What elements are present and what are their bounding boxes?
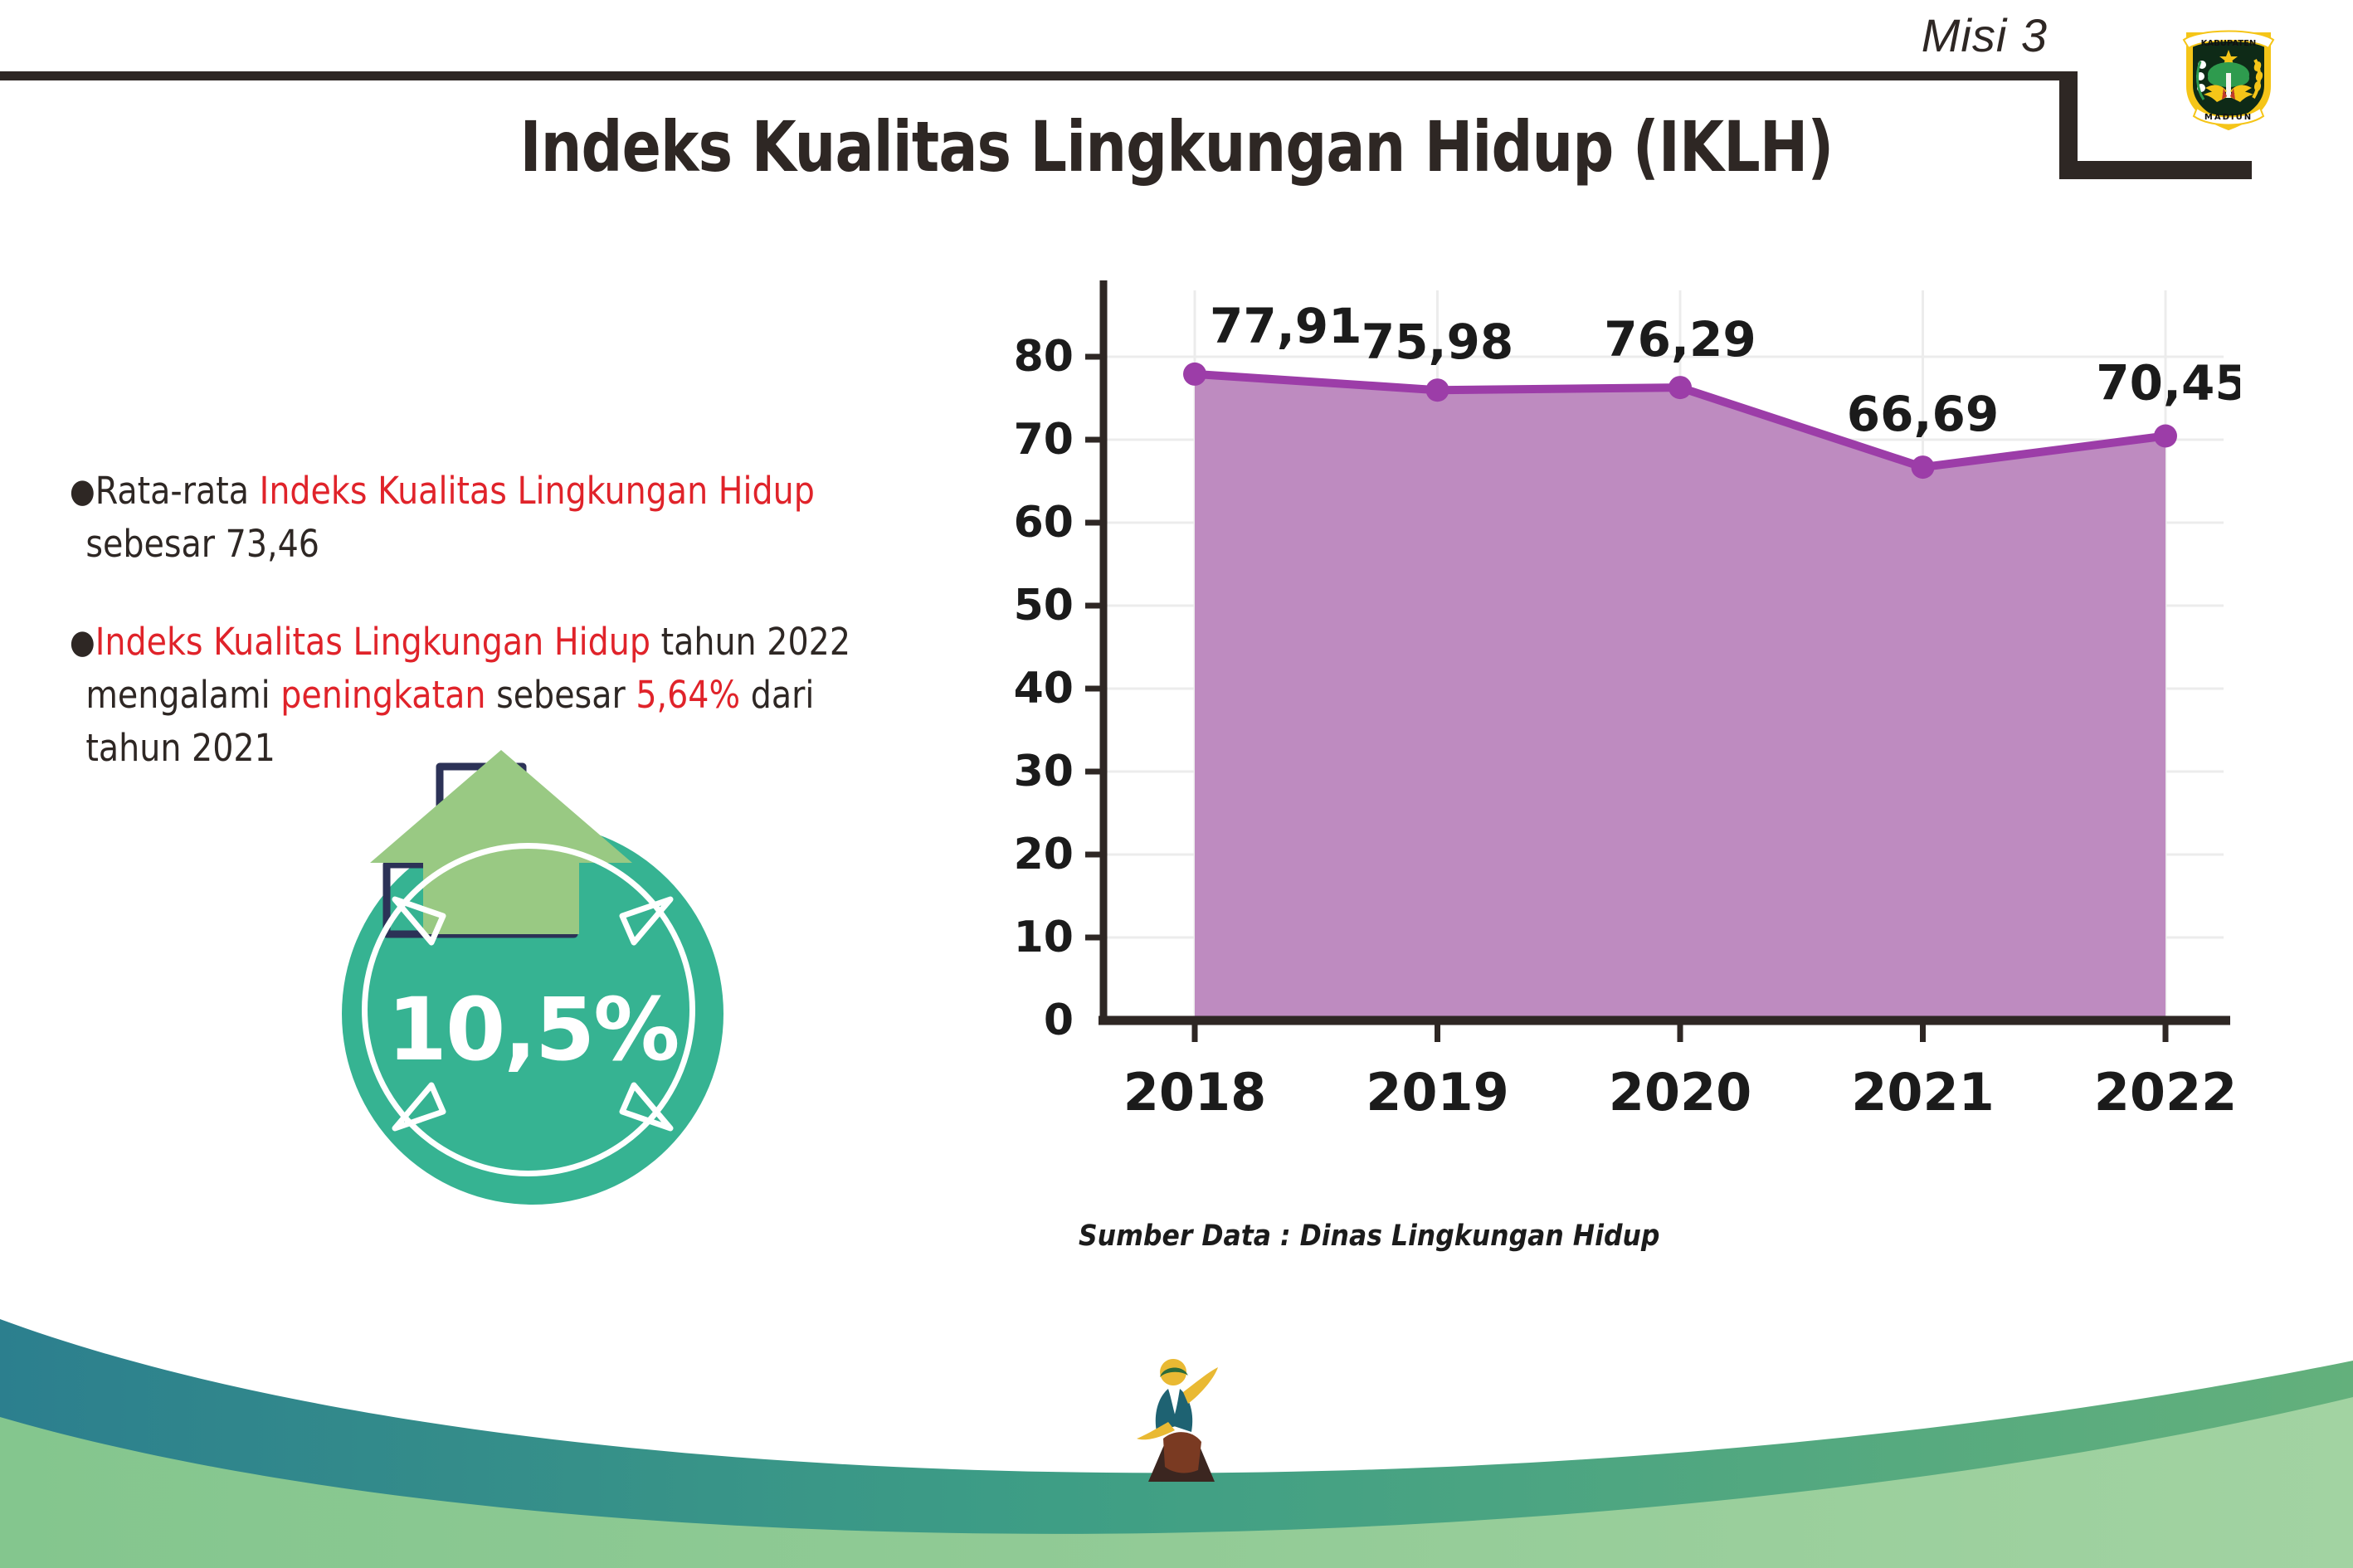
svg-text:20: 20 (1014, 830, 1074, 879)
increase-badge: 10,5% (319, 745, 750, 1210)
data-label: 66,69 (1847, 386, 1999, 442)
bullet-0-seg-2: sebesar 73,46 (85, 522, 319, 566)
chart-canvas: 010203040506070802018201920202021202277,… (979, 274, 2240, 1178)
bullet-dot: ● (70, 472, 95, 510)
page-title: Indeks Kualitas Lingkungan Hidup (IKLH) (200, 106, 2153, 187)
header-rule (0, 71, 2059, 80)
bullet-1-seg-0: Indeks Kualitas Lingkungan Hidup (95, 620, 650, 664)
svg-text:2019: 2019 (1366, 1062, 1509, 1122)
kabupaten-madiun-crest-icon: KABUPATEN MADIUN (2175, 15, 2282, 133)
data-label: 77,91 (1210, 298, 1362, 354)
list-item: ●Rata-rata Indeks Kualitas Lingkungan Hi… (70, 465, 851, 571)
bullet-1-seg-2: peningkatan (280, 673, 485, 717)
svg-text:70: 70 (1014, 415, 1074, 465)
bullet-1-seg-3: sebesar (485, 673, 636, 717)
data-label: 75,98 (1362, 314, 1513, 370)
bullet-dot: ● (70, 623, 95, 661)
dancer-figure-logo-icon (1135, 1359, 1225, 1483)
infographic-slide: Misi 3 KABUPATEN MADIUN In (0, 0, 2353, 1568)
svg-text:2018: 2018 (1123, 1062, 1267, 1122)
svg-text:2021: 2021 (1851, 1062, 1995, 1122)
iklh-area-chart: 010203040506070802018201920202021202277,… (979, 274, 2240, 1178)
svg-text:60: 60 (1014, 498, 1074, 548)
svg-text:10: 10 (1014, 913, 1074, 962)
svg-text:40: 40 (1014, 664, 1074, 713)
bullet-1-seg-4: 5,64% (636, 673, 740, 717)
bullet-0-seg-1: Indeks Kualitas Lingkungan Hidup (260, 469, 815, 513)
data-label: 76,29 (1604, 311, 1756, 368)
chart-source-note: Sumber Data : Dinas Lingkungan Hidup (1079, 1220, 1659, 1253)
svg-text:0: 0 (1044, 996, 1074, 1045)
svg-text:80: 80 (1014, 332, 1074, 382)
svg-text:50: 50 (1014, 581, 1074, 631)
svg-text:MADIUN: MADIUN (2204, 113, 2253, 122)
bullet-0-seg-0: Rata-rata (95, 469, 260, 513)
badge-percent-value: 10,5% (342, 979, 723, 1080)
svg-text:KABUPATEN: KABUPATEN (2201, 39, 2257, 48)
svg-text:30: 30 (1014, 747, 1074, 796)
svg-text:2022: 2022 (2094, 1062, 2238, 1122)
svg-text:2020: 2020 (1609, 1062, 1752, 1122)
badge-corner-triangles (319, 745, 750, 1210)
data-label: 70,45 (2096, 355, 2240, 411)
misi-label: Misi 3 (1922, 8, 2048, 62)
